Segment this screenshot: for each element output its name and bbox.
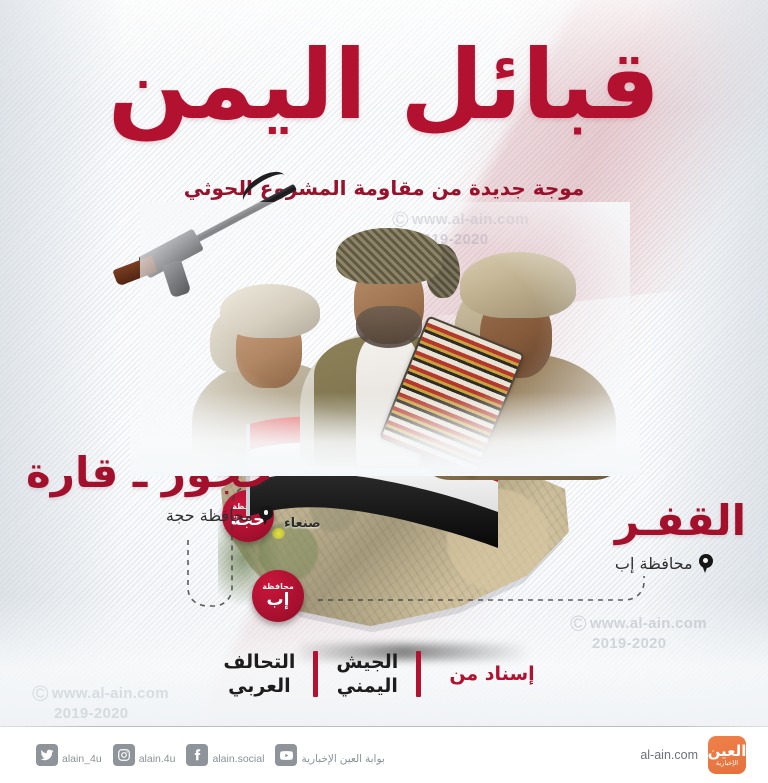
location-subtitle-row: محافظة حجة	[26, 506, 273, 525]
support-from-label: إسناد من	[431, 663, 552, 685]
support-item-yemeni-army: الجيش اليمني	[328, 650, 406, 699]
map-badge-ibb[interactable]: محافظة إب	[252, 570, 304, 622]
map-pin-icon	[259, 506, 273, 525]
location-label-alqafr: القفـر محافظة إب	[615, 500, 746, 573]
location-subtitle-row: محافظة إب	[615, 554, 746, 573]
watermark-years: 2019-2020	[54, 705, 128, 722]
social-link-facebook[interactable]: alain.social	[186, 744, 264, 766]
location-title: القفـر	[615, 500, 746, 542]
page-subtitle: موجة جديدة من مقاومة المشروع الحوثي	[0, 176, 768, 200]
badge-name: إب	[267, 592, 290, 609]
support-item-line2: العربي	[223, 674, 295, 698]
support-separator	[313, 651, 318, 697]
support-item-line1: الجيش	[336, 650, 398, 674]
page-title: قبائل اليمن	[0, 24, 768, 147]
location-subtitle: محافظة إب	[615, 554, 693, 573]
copyright-symbol: ©	[32, 681, 49, 706]
photo-bottom-fade	[130, 392, 640, 476]
social-link-twitter[interactable]: alain_4u	[36, 744, 102, 766]
social-handle: alain.4u	[139, 753, 176, 766]
capital-label: صنعاء	[284, 516, 321, 531]
support-item-line2: اليمني	[336, 674, 398, 698]
tribal-fighters-photo	[150, 212, 620, 462]
social-links: alain_4u alain.4u alai	[36, 744, 385, 766]
al-ain-logo-icon: العين الإخبارية	[708, 736, 746, 774]
infographic-poster: قبائل اليمن موجة جديدة من مقاومة المشروع…	[0, 0, 768, 783]
support-item-arab-coalition: التحالف العربي	[215, 650, 303, 699]
brand-logo-line1: العين	[708, 744, 747, 759]
brand-block[interactable]: al-ain.com العين الإخبارية	[640, 736, 746, 774]
twitter-icon	[36, 744, 58, 766]
watermark-domain: www.al-ain.com	[590, 615, 707, 632]
brand-logo-line2: الإخبارية	[716, 760, 738, 767]
support-separator	[416, 651, 421, 697]
support-item-line1: التحالف	[223, 650, 295, 674]
badge-prefix: محافظة	[262, 583, 294, 591]
social-handle: alain.social	[212, 753, 264, 766]
watermark-years: 2019-2020	[592, 635, 666, 652]
social-handle: alain_4u	[62, 753, 102, 766]
watermark-bottom: ©www.al-ain.com 2019-2020	[32, 682, 169, 722]
brand-url: al-ain.com	[640, 748, 698, 762]
map-pin-icon	[699, 554, 713, 573]
footer-bar: alain_4u alain.4u alai	[0, 727, 768, 783]
watermark-middle: ©www.al-ain.com 2019-2020	[570, 612, 707, 652]
social-handle: بوابة العين الإخبارية	[301, 753, 384, 766]
social-link-youtube[interactable]: بوابة العين الإخبارية	[275, 744, 384, 766]
headline-block: قبائل اليمن	[0, 24, 768, 147]
watermark-domain: www.al-ain.com	[52, 685, 169, 702]
instagram-icon	[113, 744, 135, 766]
location-subtitle: محافظة حجة	[166, 506, 253, 525]
copyright-symbol: ©	[570, 611, 587, 636]
social-link-instagram[interactable]: alain.4u	[113, 744, 176, 766]
facebook-icon	[186, 744, 208, 766]
youtube-icon	[275, 744, 297, 766]
